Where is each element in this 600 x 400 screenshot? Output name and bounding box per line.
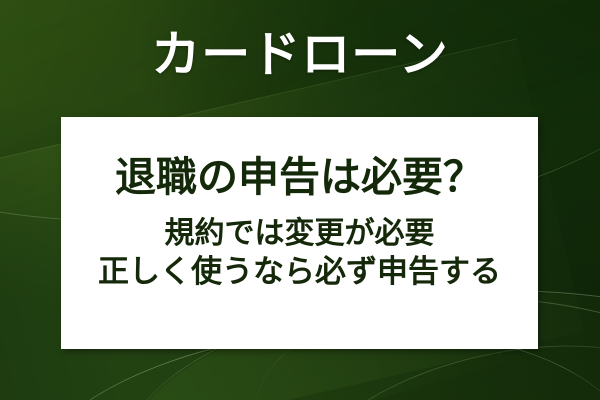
banner-header-title: カードローン [0, 24, 600, 86]
content-card: 退職の申告は必要？ 規約では変更が必要 正しく使うなら必ず申告する [61, 117, 538, 349]
card-subline-1: 規約では変更が必要 [98, 215, 501, 253]
card-subline-2: 正しく使うなら必ず申告する [98, 253, 501, 291]
card-subline-group: 規約では変更が必要 正しく使うなら必ず申告する [98, 215, 501, 291]
banner: カードローン 退職の申告は必要？ 規約では変更が必要 正しく使うなら必ず申告する [0, 0, 600, 400]
card-heading: 退職の申告は必要？ [115, 153, 484, 201]
